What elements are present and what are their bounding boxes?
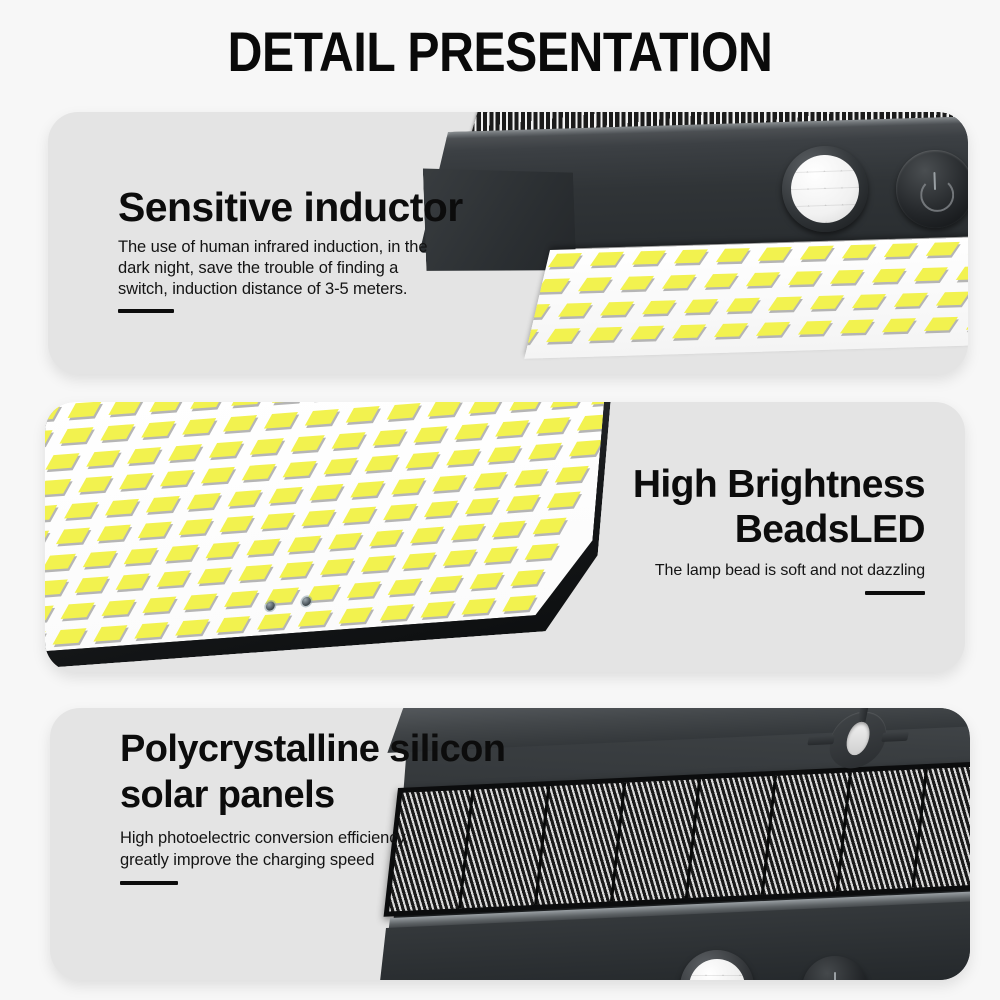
feature-panel-polycrystalline-silicon-solar-panels: Polycrystalline silicon solar panels Hig…	[50, 708, 970, 980]
feature-panel-high-brightness-beads-led: High Brightness BeadsLED The lamp bead i…	[45, 402, 965, 672]
lens-facets	[689, 959, 745, 980]
panel-1-underline	[118, 309, 174, 313]
panel-2-body: The lamp bead is soft and not dazzling	[633, 561, 925, 581]
power-icon	[820, 974, 850, 980]
panel-1-body: The use of human infrared induction, in …	[118, 237, 448, 300]
panel-3-heading-line1: Polycrystalline silicon	[120, 726, 505, 772]
panel-3-heading: Polycrystalline silicon solar panels	[120, 726, 505, 818]
page-title: DETAIL PRESENTATION	[70, 22, 930, 82]
panel-3-clip: Polycrystalline silicon solar panels Hig…	[50, 708, 970, 980]
led-diffuser-face	[524, 232, 968, 359]
product-image-led-board	[45, 410, 675, 672]
panel-2-heading-line2: BeadsLED	[633, 507, 925, 552]
product-image-lamp-front	[408, 112, 968, 374]
keyhole-mount-icon	[806, 708, 911, 772]
panel-2-clip: High Brightness BeadsLED The lamp bead i…	[45, 402, 965, 672]
panel-2-heading: High Brightness BeadsLED	[633, 462, 925, 552]
panel-3-body: High photoelectric conversion efficiency…	[120, 827, 440, 871]
led-beads-array-panel1	[524, 232, 968, 359]
panel-1-text-block: Sensitive inductor The use of human infr…	[118, 184, 463, 313]
pir-sensor-lens	[790, 154, 860, 224]
panel-1-clip: Sensitive inductor The use of human infr…	[48, 112, 968, 374]
panel-3-heading-line2: solar panels	[120, 772, 505, 818]
panel-2-text-block: High Brightness BeadsLED The lamp bead i…	[633, 462, 925, 595]
panel-3-text-block: Polycrystalline silicon solar panels Hig…	[120, 726, 505, 885]
power-icon	[919, 173, 950, 204]
lens-facets	[790, 154, 860, 224]
panel-2-heading-line1: High Brightness	[633, 462, 925, 507]
feature-panel-sensitive-inductor: Sensitive inductor The use of human infr…	[48, 112, 968, 374]
panel-3-underline	[120, 881, 178, 885]
pir-sensor-lens	[689, 959, 745, 980]
detail-presentation-page: DETAIL PRESENTATION	[0, 0, 1000, 1000]
panel-2-underline	[865, 591, 925, 595]
pir-sensor-dome	[781, 145, 870, 234]
panel-1-heading: Sensitive inductor	[118, 184, 463, 230]
